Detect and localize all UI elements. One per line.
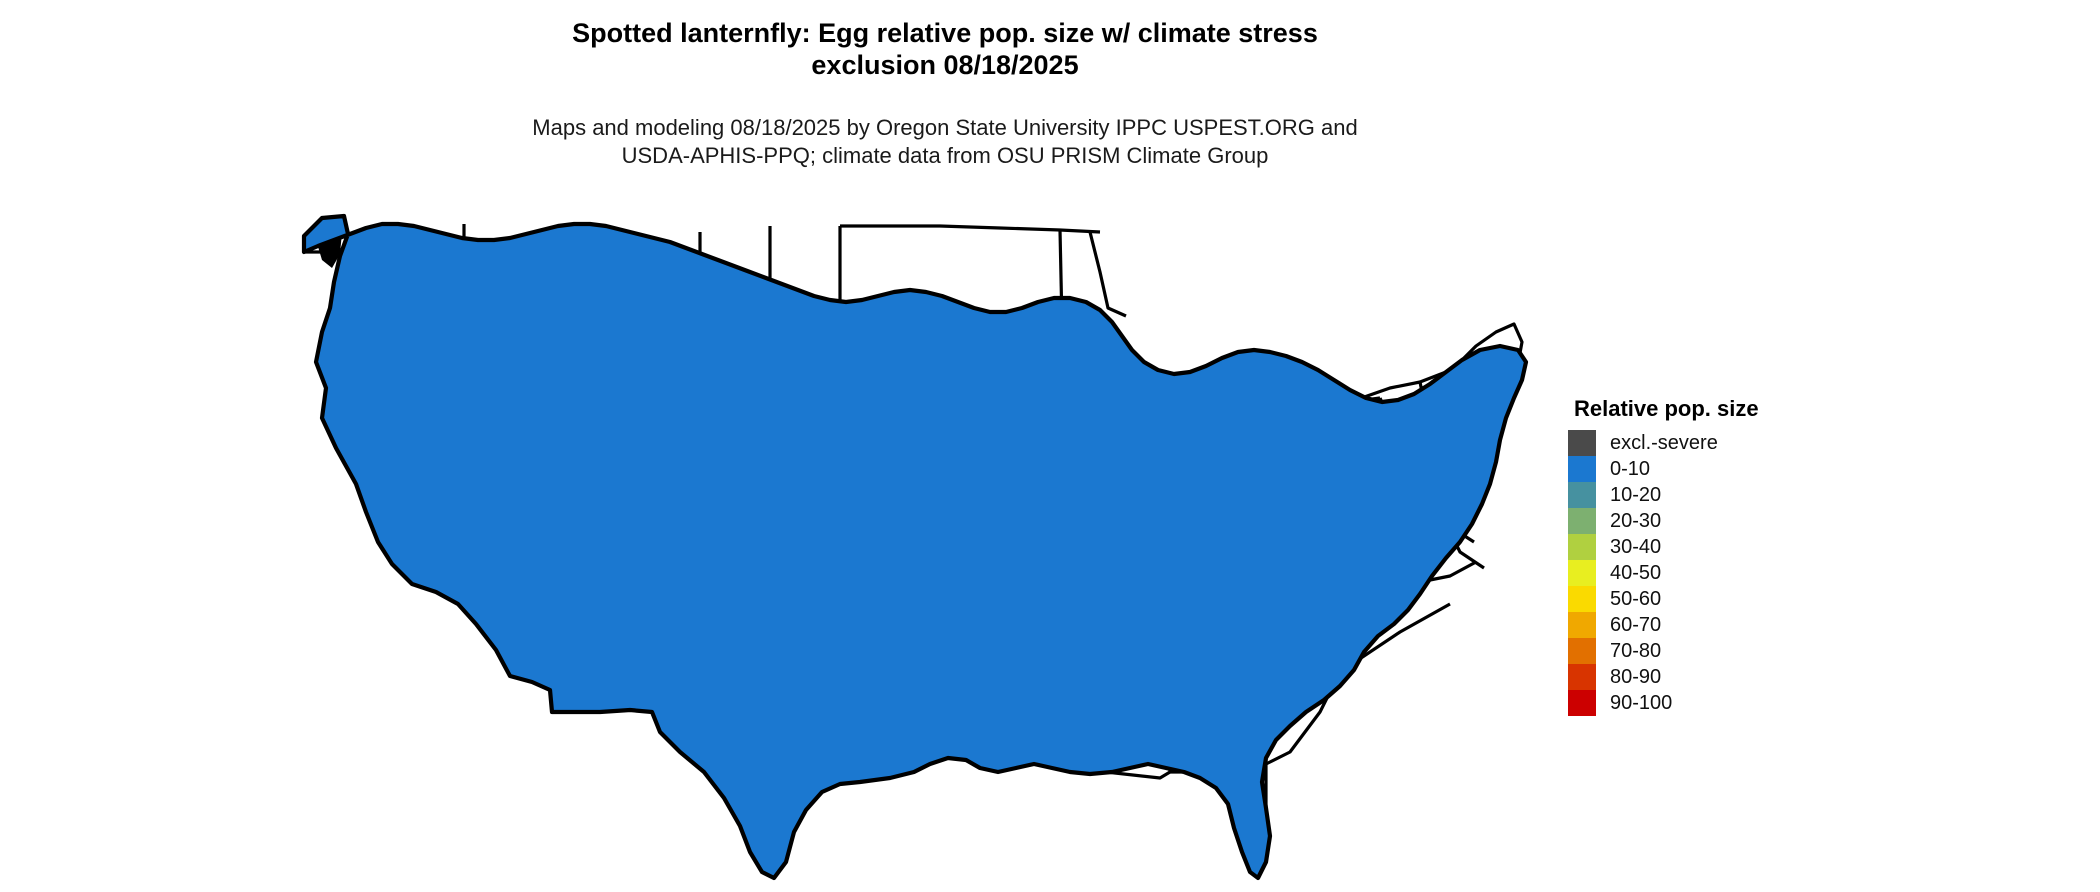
legend-color-swatch [1568,612,1596,638]
legend-label: 50-60 [1610,586,1661,612]
legend-row: 20-30 [1568,508,1898,534]
legend-label: 80-90 [1610,664,1661,690]
legend-label: 40-50 [1610,560,1661,586]
legend-label: 0-10 [1610,456,1650,482]
legend-color-swatch [1568,430,1596,456]
legend-title: Relative pop. size [1574,396,1898,422]
legend-row: 70-80 [1568,638,1898,664]
legend-label: 60-70 [1610,612,1661,638]
legend-row: 60-70 [1568,612,1898,638]
map-legend: Relative pop. size excl.-severe0-1010-20… [1568,396,1898,716]
title-block: Spotted lanternfly: Egg relative pop. si… [0,18,1890,82]
legend-row: 10-20 [1568,482,1898,508]
legend-row: excl.-severe [1568,430,1898,456]
legend-row: 50-60 [1568,586,1898,612]
choropleth-map [300,212,1530,882]
legend-color-swatch [1568,456,1596,482]
us-map-svg [300,212,1530,882]
legend-label: 30-40 [1610,534,1661,560]
legend-color-swatch [1568,586,1596,612]
legend-row: 80-90 [1568,664,1898,690]
legend-color-swatch [1568,482,1596,508]
legend-color-swatch [1568,508,1596,534]
legend-color-swatch [1568,690,1596,716]
legend-label: 10-20 [1610,482,1661,508]
legend-row: 0-10 [1568,456,1898,482]
legend-label: excl.-severe [1610,430,1718,456]
figure-canvas: Spotted lanternfly: Egg relative pop. si… [0,0,2100,892]
legend-color-swatch [1568,664,1596,690]
legend-color-swatch [1568,638,1596,664]
page-title: Spotted lanternfly: Egg relative pop. si… [0,18,1890,82]
legend-color-swatch [1568,560,1596,586]
legend-items: excl.-severe0-1010-2020-3030-4040-5050-6… [1568,430,1898,716]
legend-row: 90-100 [1568,690,1898,716]
legend-row: 40-50 [1568,560,1898,586]
legend-row: 30-40 [1568,534,1898,560]
legend-label: 90-100 [1610,690,1672,716]
subtitle: Maps and modeling 08/18/2025 by Oregon S… [0,114,1890,170]
legend-color-swatch [1568,534,1596,560]
legend-label: 70-80 [1610,638,1661,664]
legend-label: 20-30 [1610,508,1661,534]
